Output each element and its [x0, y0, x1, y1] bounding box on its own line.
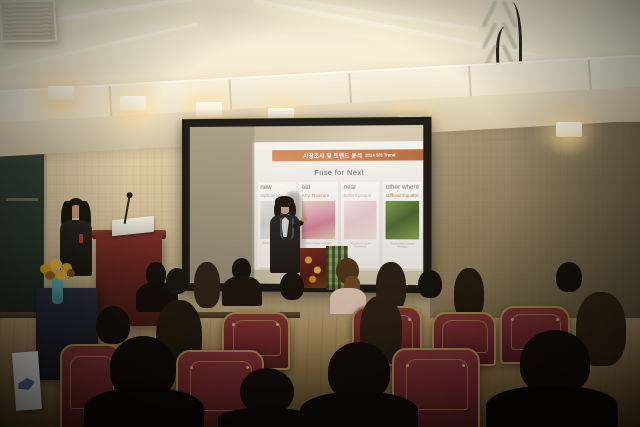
- presenter: [268, 196, 302, 276]
- audience-member: [300, 342, 418, 427]
- wall-sconce: [556, 122, 582, 137]
- column-thumbnail: [344, 201, 377, 239]
- ceiling-acoustic-panel: [0, 0, 57, 42]
- slide-title-bar: 시장조사 및 트렌드 분석 2014 S/S Trend: [272, 149, 423, 161]
- conference-hall-photo: 시장조사 및 트렌드 분석 2014 S/S Trend Fuse for Ne…: [0, 0, 640, 427]
- column-subtitle: Arty Treasure: [302, 193, 335, 199]
- name-badge: [79, 234, 83, 243]
- audience-member: [486, 330, 618, 427]
- promotional-bag: [12, 351, 42, 411]
- slide-headline: Fuse for Next: [252, 167, 423, 177]
- audience-head: [556, 262, 582, 292]
- slide-title-korean: 시장조사 및 트렌드 분석: [303, 151, 362, 159]
- column-caption: Enchanted Jungle Fantasy: [386, 242, 419, 249]
- column-label: other where: [386, 185, 419, 192]
- column-subtitle: Belle Epoque: [344, 193, 377, 199]
- column-caption: Woman in Local Feminine: [344, 242, 377, 249]
- audience-member: [330, 258, 366, 310]
- column-label: new: [260, 185, 292, 192]
- column-subtitle: Offbeat Equator: [386, 193, 419, 199]
- wall-sconce: [120, 96, 146, 111]
- flower-arrangement: [36, 256, 80, 282]
- wall-sconce: [48, 86, 74, 101]
- slide-column-other-where: other where Offbeat Equator Enchanted Ju…: [383, 182, 423, 269]
- audience-head: [166, 268, 188, 294]
- audience-head: [418, 270, 442, 298]
- column-label: old: [302, 185, 335, 192]
- slide-title-english: 2014 S/S Trend: [365, 152, 395, 157]
- column-caption: Camouflage Variable: [302, 242, 335, 246]
- audience-head: [280, 272, 304, 300]
- audience-head: [194, 262, 220, 308]
- audience-member: [84, 336, 204, 427]
- ceiling-light-strip: [152, 0, 479, 33]
- audience-member: [218, 368, 314, 427]
- wall-sconce: [196, 102, 222, 117]
- column-label: near: [344, 185, 377, 192]
- floral-display-board: [300, 248, 328, 288]
- audience-shoulders: [222, 276, 262, 306]
- column-thumbnail: [386, 200, 419, 238]
